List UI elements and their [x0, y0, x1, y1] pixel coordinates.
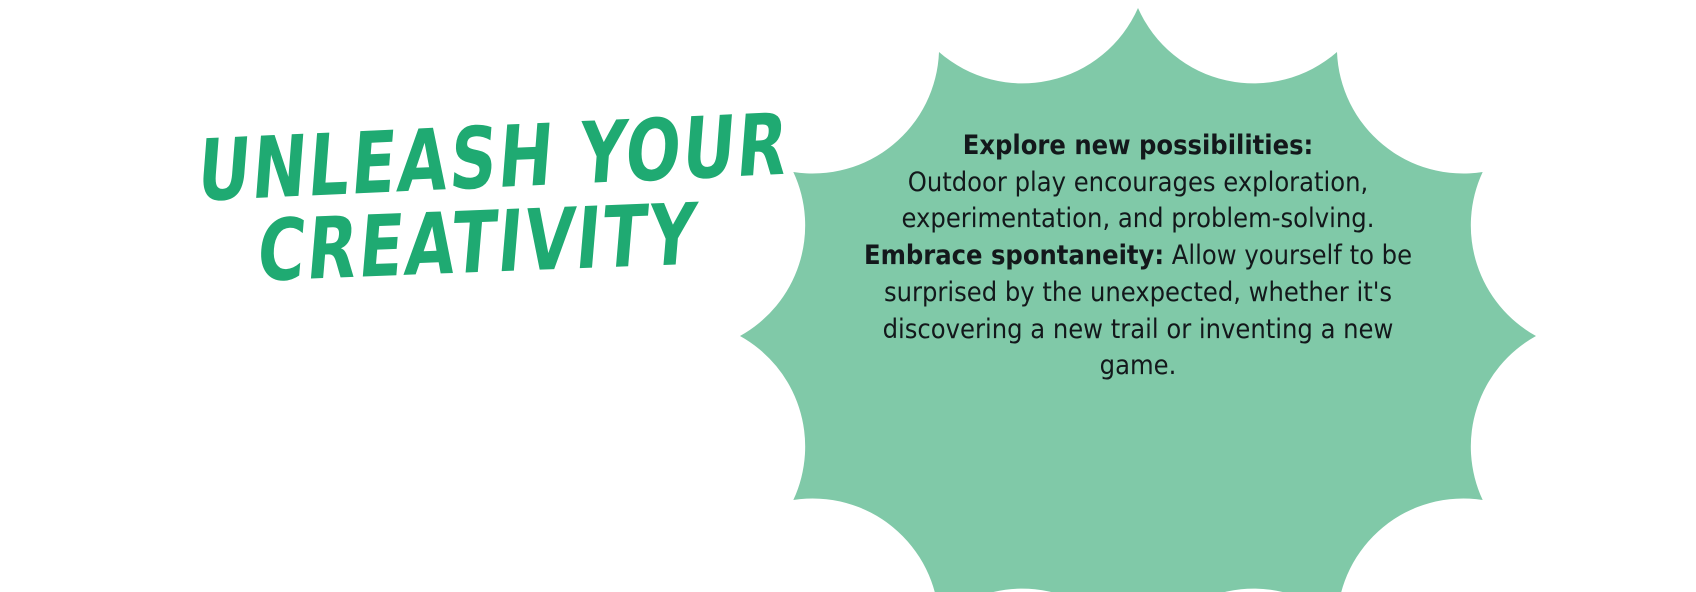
headline-block: Unleash Your Creativity [150, 120, 710, 340]
badge-heading-2: Embrace spontaneity: [864, 240, 1164, 271]
badge-body-1: Outdoor play encourages exploration, exp… [902, 167, 1375, 235]
badge-paragraph-1: Explore new possibilities: Outdoor play … [842, 128, 1434, 238]
badge-heading-1: Explore new possibilities: [963, 130, 1314, 161]
slide-canvas: Unleash Your Creativity Explore new poss… [0, 0, 1696, 592]
badge-text-block: Explore new possibilities: Outdoor play … [842, 128, 1434, 385]
starburst-badge: Explore new possibilities: Outdoor play … [738, 6, 1538, 592]
headline-line-2: Creativity [255, 195, 701, 290]
badge-paragraph-2: Embrace spontaneity: Allow yourself to b… [842, 238, 1434, 385]
